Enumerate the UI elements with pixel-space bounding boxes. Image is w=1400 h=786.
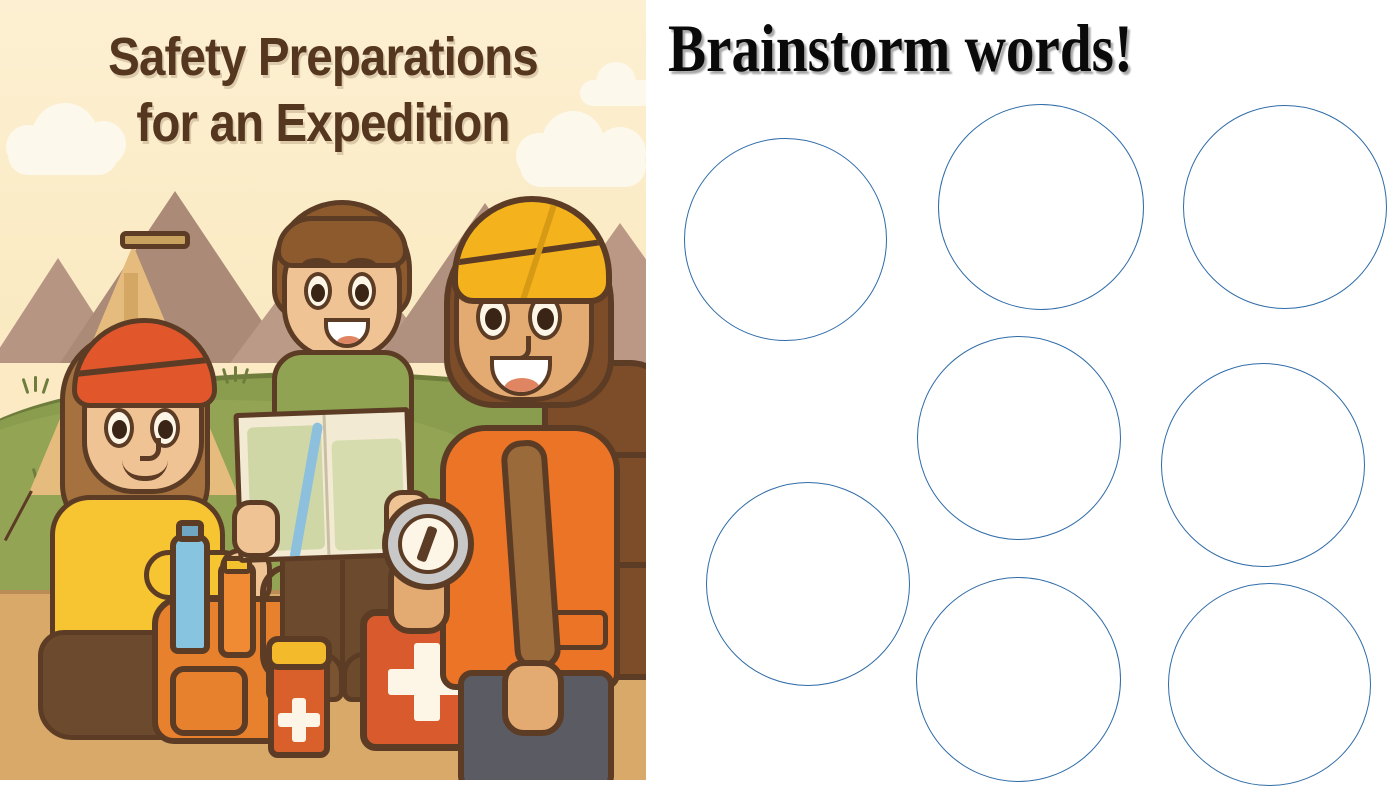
- thermos-canister: [262, 636, 338, 761]
- bubble-6[interactable]: [706, 482, 910, 686]
- bubble-3[interactable]: [1183, 105, 1387, 309]
- worksheet-page: Safety Preparations for an Expedition: [0, 0, 1400, 780]
- poster-title-line-1: Safety Preparations: [39, 24, 607, 90]
- thermos-cross-horizontal: [278, 713, 320, 727]
- brainstorm-heading: Brainstorm words!: [668, 8, 1133, 88]
- bubble-7[interactable]: [916, 577, 1121, 782]
- boy-center-pupil-right: [355, 284, 369, 302]
- bubble-1[interactable]: [684, 138, 887, 341]
- boy-center-hair-fringe: [276, 216, 408, 268]
- girl-beanie: [72, 318, 217, 408]
- brainstorm-panel: Brainstorm words!: [646, 0, 1400, 780]
- girl-pupil-right: [158, 420, 173, 439]
- girl-pupil-left: [112, 420, 127, 439]
- boy-center-brow-right: [346, 258, 376, 271]
- bubble-8[interactable]: [1168, 583, 1371, 786]
- child-boy-right: [430, 190, 646, 780]
- water-bottle-cap: [176, 520, 204, 542]
- poster-title-line-2: for an Expedition: [39, 90, 607, 156]
- boy-right-pupil-left: [485, 308, 502, 330]
- tent-peak-cap: [120, 231, 190, 249]
- boy-right-pupil-right: [537, 308, 554, 330]
- girl-beanie-stripe: [72, 355, 217, 378]
- compass: [382, 498, 474, 590]
- expedition-illustration: Safety Preparations for an Expedition: [0, 0, 646, 780]
- boy-right-beanie: [452, 196, 612, 304]
- bubble-5[interactable]: [1161, 363, 1365, 567]
- boy-center-pupil-left: [311, 284, 325, 302]
- water-bottle: [170, 534, 210, 654]
- boy-center-hand-left: [232, 500, 280, 558]
- bubble-4[interactable]: [917, 336, 1121, 540]
- boy-center-brow-left: [302, 258, 332, 271]
- boy-right-hand-strap: [502, 660, 564, 736]
- backpack-pocket: [170, 666, 248, 736]
- thermos-lid: [266, 636, 332, 670]
- poster-title: Safety Preparations for an Expedition: [0, 24, 646, 156]
- bubble-2[interactable]: [938, 104, 1144, 310]
